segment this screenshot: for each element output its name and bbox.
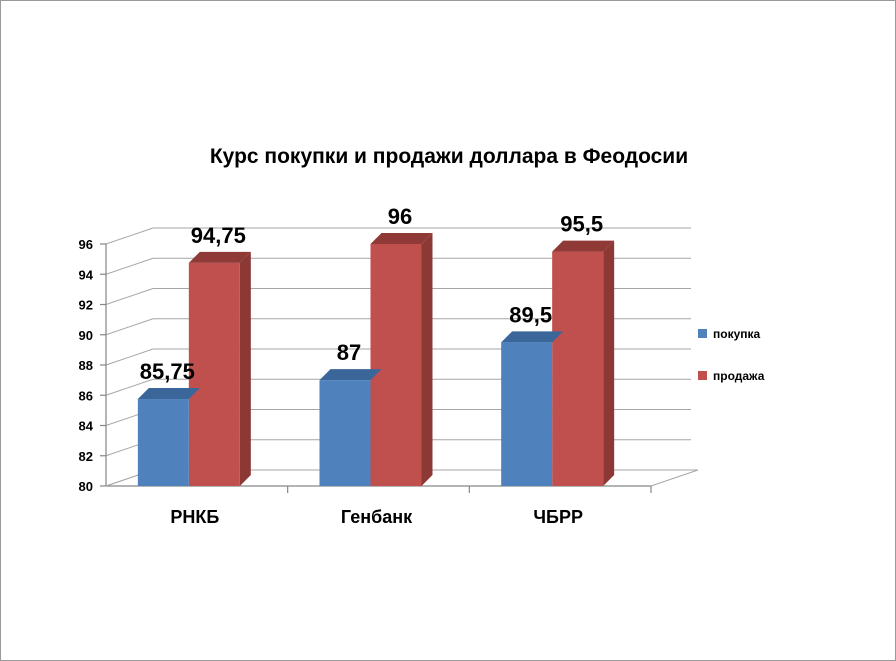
- bar-value-label: 89,5: [509, 302, 552, 327]
- y-axis-labels: 808284868890929496: [79, 237, 94, 494]
- bar-продажа-ЧБРР: [552, 241, 614, 486]
- bar-value-label: 96: [388, 204, 412, 229]
- legend-item-продажа[interactable]: продажа: [698, 369, 765, 383]
- legend: покупкапродажа: [698, 327, 765, 383]
- y-axis-tick-label: 90: [79, 328, 93, 343]
- depth-line: [106, 289, 153, 305]
- y-axis-tick-label: 82: [79, 449, 93, 464]
- y-axis-tick-label: 88: [79, 358, 93, 373]
- category-label: ЧБРР: [533, 507, 583, 527]
- legend-label: продажа: [713, 369, 765, 383]
- bar-front-face: [189, 263, 240, 486]
- depth-line: [106, 228, 153, 244]
- bar-chart-3d: Курс покупки и продажи доллара в Феодоси…: [1, 1, 896, 661]
- bar-front-face: [501, 342, 552, 486]
- bar-front-face: [371, 244, 422, 486]
- chart-container: Курс покупки и продажи доллара в Феодоси…: [0, 0, 896, 661]
- depth-line: [106, 319, 153, 335]
- category-labels: РНКБГенбанкЧБРР: [170, 507, 583, 527]
- bar-side-face: [422, 233, 433, 486]
- y-axis-tick-label: 86: [79, 388, 93, 403]
- bar-продажа-Генбанк: [371, 233, 433, 486]
- legend-label: покупка: [713, 327, 761, 341]
- bar-value-label: 87: [337, 340, 361, 365]
- legend-item-покупка[interactable]: покупка: [698, 327, 761, 341]
- floor-right-edge: [651, 470, 698, 486]
- bar-продажа-РНКБ: [189, 252, 251, 486]
- bar-side-face: [240, 252, 251, 486]
- bar-value-label: 94,75: [191, 223, 246, 248]
- bar-value-label: 85,75: [140, 359, 195, 384]
- bar-front-face: [138, 399, 189, 486]
- y-axis-tick-label: 92: [79, 298, 93, 313]
- bars-layer: [138, 233, 614, 486]
- category-label: РНКБ: [170, 507, 219, 527]
- bar-front-face: [552, 252, 603, 486]
- y-axis-tick-label: 80: [79, 479, 93, 494]
- bar-value-label: 95,5: [560, 212, 603, 237]
- legend-swatch-icon: [698, 329, 707, 338]
- legend-swatch-icon: [698, 371, 707, 380]
- category-label: Генбанк: [341, 507, 413, 527]
- y-axis-tick-label: 84: [79, 419, 94, 434]
- bar-side-face: [603, 241, 614, 486]
- y-axis-tick-label: 94: [79, 267, 94, 282]
- chart-title: Курс покупки и продажи доллара в Феодоси…: [210, 145, 688, 168]
- depth-line: [106, 258, 153, 274]
- y-axis-tick-label: 96: [79, 237, 93, 252]
- bar-front-face: [320, 380, 371, 486]
